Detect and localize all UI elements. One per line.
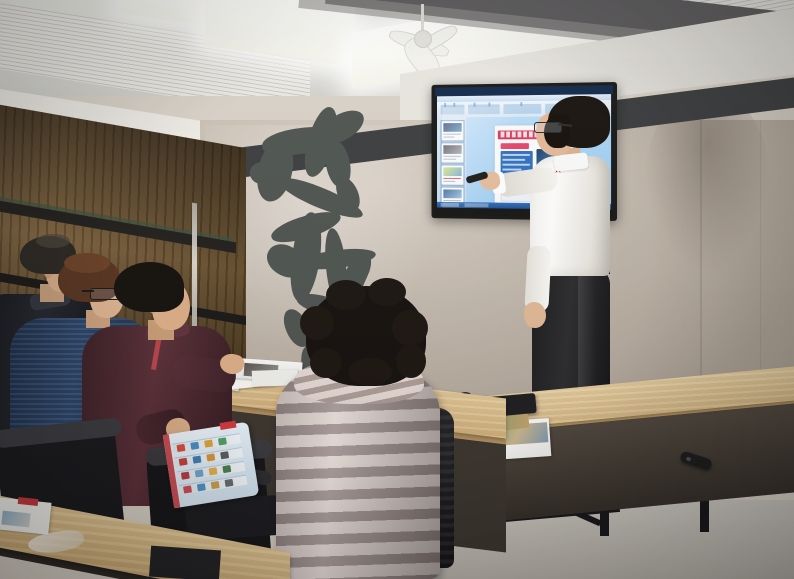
brochure-cell xyxy=(206,453,215,461)
attendee-1-hair-top xyxy=(36,234,70,248)
brochure-cell xyxy=(179,458,188,466)
hair-curl xyxy=(368,278,406,306)
presenter-trousers-highlight xyxy=(578,276,596,396)
fan-rod xyxy=(421,4,424,32)
brochure-cell xyxy=(195,469,204,477)
brochure-cell xyxy=(222,465,231,473)
ribbon-tick xyxy=(488,102,490,106)
brochure-cell xyxy=(181,472,190,480)
brochure-cell xyxy=(183,485,192,493)
front-paper-image xyxy=(1,511,30,528)
brochure-cell xyxy=(176,444,185,452)
hair-curl xyxy=(326,280,366,310)
classroom-scene: 藝 xyxy=(0,0,794,579)
brochure-cell xyxy=(190,442,199,450)
held-brochure[interactable] xyxy=(163,422,260,509)
brochure-cell xyxy=(211,481,220,489)
brochure-cell xyxy=(225,479,234,487)
presenter xyxy=(518,96,638,426)
attendee-3-hair xyxy=(114,262,184,312)
attendee-striped-vest xyxy=(272,286,452,579)
brochure-cell xyxy=(220,451,229,459)
ribbon-tick xyxy=(453,103,455,107)
hair-curl xyxy=(310,348,342,378)
hair-curl xyxy=(396,344,426,378)
brochure-cell xyxy=(218,437,227,445)
hair-curl xyxy=(300,306,334,340)
hair-curl xyxy=(348,358,392,386)
ceiling-light-panel-3 xyxy=(120,0,215,27)
brochure-cell xyxy=(192,456,201,464)
brochure-cell xyxy=(204,440,213,448)
brochure-tab xyxy=(220,421,237,430)
presenter-right-hand xyxy=(524,302,546,328)
hair-curl xyxy=(392,310,428,346)
brochure-cell xyxy=(209,467,218,475)
front-table-dark-item xyxy=(149,546,221,579)
ribbon-tick xyxy=(474,103,476,107)
ribbon-tick xyxy=(444,103,446,107)
ceiling-fan-icon xyxy=(380,6,460,66)
brochure-cell xyxy=(197,483,206,491)
fan-hub xyxy=(414,30,432,48)
